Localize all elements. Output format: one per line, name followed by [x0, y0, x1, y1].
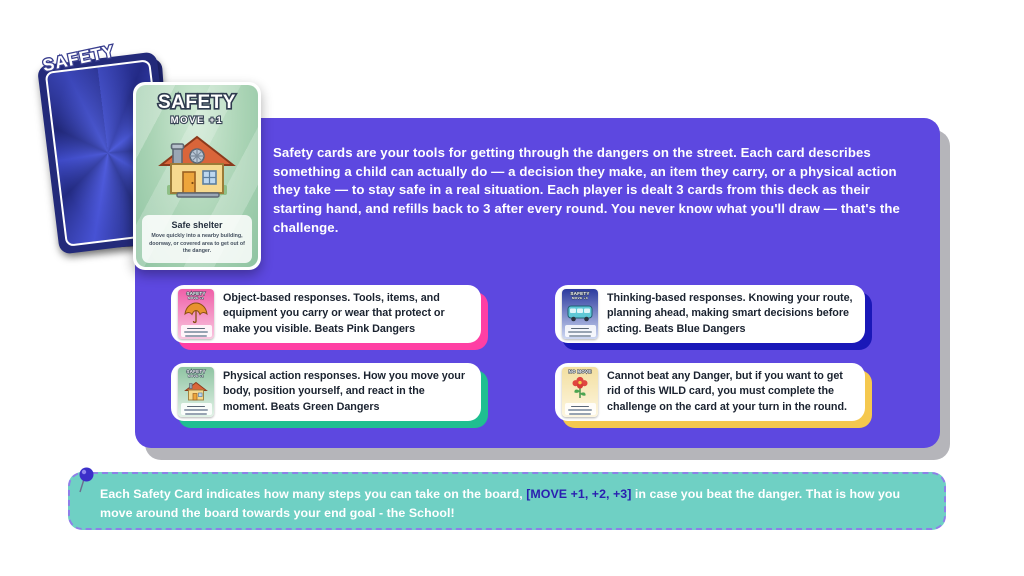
category-box-wild-no-move[interactable]: NO MOVE — [555, 363, 865, 421]
mini-card-footer — [181, 325, 212, 337]
category-box-face: SAFETY MOVE +2 Object-based responses. T… — [171, 285, 481, 343]
category-box-physical-action[interactable]: SAFETY MOVE +1 Physical action response — [171, 363, 481, 421]
mini-card-move: MOVE +2 — [178, 296, 214, 300]
bus-icon — [562, 301, 598, 325]
mini-card-object-based[interactable]: SAFETY MOVE +2 — [178, 289, 214, 339]
category-box-object-based[interactable]: SAFETY MOVE +2 Object-based responses. T… — [171, 285, 481, 343]
house-icon — [136, 128, 258, 206]
category-text-wild-no-move: Cannot beat any Danger, but if you want … — [607, 369, 856, 415]
mini-card-move: MOVE +3 — [562, 296, 598, 300]
mini-card-header: SAFETY — [562, 289, 598, 296]
mini-card-thinking-based[interactable]: SAFETY MOVE +3 — [562, 289, 598, 339]
pushpin-icon — [76, 466, 102, 498]
banner-text-before: Each Safety Card indicates how many step… — [100, 487, 523, 501]
banner-highlight: [MOVE +1, +2, +3] — [526, 487, 631, 501]
featured-card-move: MOVE +1 — [136, 115, 258, 126]
featured-card-face: SAFETY MOVE +1 Safe shelter Move quickly… — [136, 85, 258, 267]
banner-text: Each Safety Card indicates how many step… — [100, 485, 924, 523]
flower-icon — [562, 375, 598, 399]
featured-card-title: SAFETY — [136, 92, 258, 114]
mini-card-physical-action[interactable]: SAFETY MOVE +1 — [178, 367, 214, 417]
mini-card-footer — [181, 403, 212, 415]
category-box-face: NO MOVE — [555, 363, 865, 421]
category-box-thinking-based[interactable]: SAFETY MOVE +3 Thinking- — [555, 285, 865, 343]
featured-card-info-panel: Safe shelter Move quickly into a nearby … — [142, 215, 252, 263]
mini-card-move: MOVE +1 — [178, 374, 214, 378]
panel-paragraph: Safety cards are your tools for getting … — [273, 144, 913, 238]
category-box-grid: SAFETY MOVE +2 Object-based responses. T… — [171, 285, 901, 421]
mini-card-header: NO MOVE — [562, 367, 598, 374]
category-text-thinking-based: Thinking-based responses. Knowing your r… — [607, 291, 856, 337]
category-text-object-based: Object-based responses. Tools, items, an… — [223, 291, 472, 337]
category-box-face: SAFETY MOVE +1 Physical action response — [171, 363, 481, 421]
mini-card-footer — [565, 325, 596, 337]
category-box-face: SAFETY MOVE +3 Thinking- — [555, 285, 865, 343]
house-icon — [178, 379, 214, 403]
move-steps-banner: Each Safety Card indicates how many step… — [68, 472, 946, 530]
mini-card-header: SAFETY — [178, 289, 214, 296]
featured-card-description: Move quickly into a nearby building, doo… — [148, 233, 246, 256]
mini-card-header: SAFETY — [178, 367, 214, 374]
category-text-physical-action: Physical action responses. How you move … — [223, 369, 472, 415]
mini-card-footer — [565, 403, 596, 415]
mini-card-wild-no-move[interactable]: NO MOVE — [562, 367, 598, 417]
umbrella-icon — [178, 301, 214, 325]
featured-safety-card[interactable]: SAFETY MOVE +1 Safe shelter Move quickly… — [133, 82, 261, 270]
featured-card-name: Safe shelter — [148, 220, 246, 230]
